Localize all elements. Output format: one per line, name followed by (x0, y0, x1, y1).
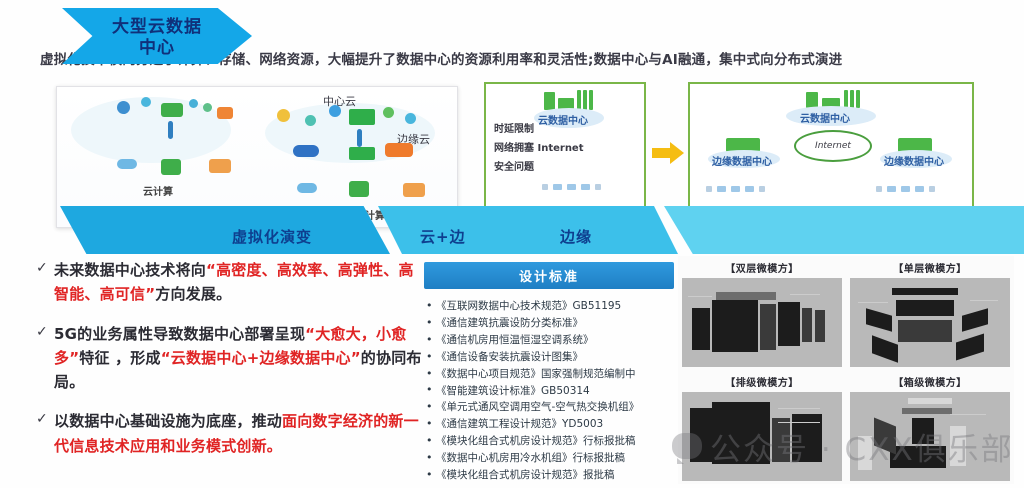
bullet-text-3: 以数据中心基础设施为底座，推动面向数字经济的新一代信息技术应用和业务模式创新。 (54, 409, 426, 458)
issue-list: 时延限制 网络拥塞 Internet 安全问题 (494, 120, 584, 177)
device-row (706, 186, 765, 192)
check-icon: ✓ (36, 409, 54, 431)
node-box (168, 121, 173, 139)
bullet-seg-accent: “云数据中心+边缘数据中心” (161, 349, 361, 367)
edge-datacenter-label-right: 边缘数据中心 (884, 153, 944, 168)
standard-item: 《互联网数据中心技术规范》GB51195 (424, 298, 674, 315)
module-part (902, 408, 952, 414)
standard-item: 《通信机房用恒温恒湿空调系统》 (424, 332, 674, 349)
standard-item: 《模块化组合式机房设计规范》行标报批稿 (424, 433, 674, 450)
node-dot (203, 103, 212, 112)
device-icon (567, 184, 576, 190)
callout-line (790, 294, 820, 295)
node-box (209, 159, 231, 173)
module-part (772, 418, 790, 462)
standards-title: 设计标准 (424, 262, 674, 289)
photo-cell-2: 【单层微模方】 (850, 260, 1010, 370)
module-photo-grid: 【双层微模方】 【单层微模方】 (678, 256, 1014, 484)
building-icon (844, 90, 848, 108)
design-standards-panel: 设计标准 《互联网数据中心技术规范》GB51195 《通信建筑抗震设防分类标准》… (424, 262, 674, 484)
node-dot (141, 97, 151, 107)
node-dot (189, 99, 198, 108)
node-box (161, 103, 183, 117)
device-icon (706, 186, 712, 192)
node-box (357, 129, 362, 147)
node-dot (305, 115, 316, 126)
module-part (896, 300, 954, 316)
module-part (874, 418, 896, 455)
chevron-shape (60, 206, 390, 254)
photo-image-2 (850, 278, 1010, 367)
photo-cell-3: 【排级微模方】 (682, 374, 842, 484)
module-part (908, 398, 952, 404)
chevron-segment-3 (664, 206, 1024, 254)
node-box (297, 183, 317, 193)
module-part (690, 408, 714, 462)
standard-item: 《模块化组合式机房设计规范》报批稿 (424, 467, 674, 484)
device-row (876, 186, 935, 192)
module-part (898, 320, 952, 342)
check-icon: ✓ (36, 258, 54, 280)
arrow-head (670, 142, 684, 164)
banner-line-2: 中心 (139, 38, 175, 59)
node-dot (277, 109, 290, 122)
node-box (117, 159, 137, 169)
cloud-datacenter-label: 云数据中心 (800, 110, 850, 125)
standard-item: 《单元式通风空调用空气-空气热交换机组》 (424, 399, 674, 416)
bullet-list: ✓ 未来数据中心技术将向“高密度、高效率、高弹性、高智能、高可信”方向发展。 ✓… (36, 258, 426, 473)
node-box (293, 145, 319, 157)
device-icon (745, 186, 754, 192)
module-part (716, 292, 776, 300)
module-part (872, 335, 898, 362)
callout-line (858, 302, 888, 303)
device-icon (901, 186, 910, 192)
node-box (161, 159, 181, 175)
bullet-seg: 特征 ，形成 (79, 349, 160, 367)
node-dot (405, 113, 416, 124)
bullet-seg: 以数据中心基础设施为底座，推动 (54, 412, 282, 430)
module-part (890, 446, 946, 468)
device-icon (717, 186, 726, 192)
bullet-seg: 5G的业务属性导致数据中心部署呈现 (54, 325, 305, 343)
bullet-item-3: ✓ 以数据中心基础设施为底座，推动面向数字经济的新一代信息技术应用和业务模式创新… (36, 409, 426, 458)
module-part (778, 302, 800, 346)
module-part (692, 308, 710, 350)
standard-item: 《通信建筑抗震设防分类标准》 (424, 315, 674, 332)
standard-item: 《数据中心机房用冷水机组》行标报批稿 (424, 450, 674, 467)
building-icon (577, 90, 581, 110)
node-box (217, 107, 233, 119)
photo-image-3 (682, 392, 842, 481)
bullet-item-1: ✓ 未来数据中心技术将向“高密度、高效率、高弹性、高智能、高可信”方向发展。 (36, 258, 426, 307)
device-icon (731, 186, 740, 192)
standard-item: 《数据中心项目规范》国家强制规范编制中 (424, 366, 674, 383)
device-icon (581, 184, 590, 190)
edge-datacenter-label-left: 边缘数据中心 (712, 153, 772, 168)
evolution-chevron-band: 虚拟化演变 云+边 边缘 (0, 206, 1024, 254)
device-row (542, 184, 601, 190)
callout-line (950, 414, 986, 415)
device-icon (553, 184, 562, 190)
callout-line (970, 300, 998, 301)
chevron-label-3: 边缘 (560, 226, 592, 247)
node-box (349, 109, 375, 125)
building-icon (850, 90, 854, 108)
bullet-text-1: 未来数据中心技术将向“高密度、高效率、高弹性、高智能、高可信”方向发展。 (54, 258, 426, 307)
header-banner-text: 大型云数据 中心 (62, 12, 252, 64)
device-icon (759, 186, 765, 192)
callout-line (778, 422, 820, 423)
module-part (815, 310, 825, 342)
internet-label: Internet (815, 141, 851, 151)
callout-line (778, 408, 820, 409)
standard-item: 《智能建筑设计标准》GB50314 (424, 382, 674, 399)
bullet-seg: 方向发展。 (155, 285, 231, 303)
photo-image-4 (850, 392, 1010, 481)
callout-line (688, 296, 712, 297)
issue-item-security: 安全问题 (494, 158, 584, 177)
chevron-label-1: 虚拟化演变 (232, 226, 312, 247)
photo-caption-2: 【单层微模方】 (850, 260, 1010, 275)
device-icon (542, 184, 548, 190)
node-dot (117, 101, 130, 114)
check-icon: ✓ (36, 322, 54, 344)
building-icon (856, 90, 860, 108)
issue-item-congestion: 网络拥塞 Internet (494, 139, 584, 158)
node-dot (329, 105, 341, 117)
module-part (866, 308, 892, 331)
module-part (892, 288, 958, 295)
device-icon (929, 186, 935, 192)
module-part (712, 300, 758, 352)
module-part (962, 308, 988, 331)
photo-cell-1: 【双层微模方】 (682, 260, 842, 370)
building-icon (544, 92, 555, 110)
node-box (385, 143, 413, 157)
internet-ellipse: Internet (794, 130, 872, 162)
module-part (760, 304, 776, 350)
device-icon (887, 186, 896, 192)
node-box (403, 183, 425, 197)
photo-caption-1: 【双层微模方】 (682, 260, 842, 275)
standard-item: 《通信设备安装抗震设计图集》 (424, 349, 674, 366)
slide-canvas: 大型云数据 中心 虚拟化技术横向打通了计算、存储、网络资源，大幅提升了数据中心的… (0, 0, 1024, 488)
photo-cell-4: 【箱级微模方】 (850, 374, 1010, 484)
arrow-stem (652, 148, 672, 158)
building-icon (589, 90, 593, 110)
bullet-seg: 未来数据中心技术将向 (54, 261, 206, 279)
module-part (858, 436, 872, 470)
building-icon (583, 90, 587, 110)
photo-caption-3: 【排级微模方】 (682, 374, 842, 389)
bullet-item-2: ✓ 5G的业务属性导致数据中心部署呈现“大愈大，小愈多”特征 ，形成“云数据中心… (36, 322, 426, 395)
node-dot (383, 107, 394, 118)
node-box (349, 181, 369, 197)
label-cloud-computing: 云计算 (143, 183, 173, 198)
module-part (912, 418, 934, 444)
photo-caption-4: 【箱级微模方】 (850, 374, 1010, 389)
module-part (956, 333, 984, 360)
node-box (349, 147, 375, 160)
module-part (802, 308, 812, 342)
chevron-shape (664, 206, 1024, 254)
chevron-segment-1 (60, 206, 390, 254)
standard-item: 《通信建筑工程设计规范》YD5003 (424, 416, 674, 433)
device-icon (915, 186, 924, 192)
photo-image-1 (682, 278, 842, 367)
module-part (950, 426, 966, 466)
banner-line-1: 大型云数据 (112, 17, 202, 38)
bullet-text-2: 5G的业务属性导致数据中心部署呈现“大愈大，小愈多”特征 ，形成“云数据中心+边… (54, 322, 426, 395)
issue-item-latency: 时延限制 (494, 120, 584, 139)
device-icon (595, 184, 601, 190)
module-part (712, 402, 770, 464)
chevron-label-2: 云+边 (420, 226, 466, 247)
device-icon (876, 186, 882, 192)
standards-list: 《互联网数据中心技术规范》GB51195 《通信建筑抗震设防分类标准》 《通信机… (424, 298, 674, 484)
